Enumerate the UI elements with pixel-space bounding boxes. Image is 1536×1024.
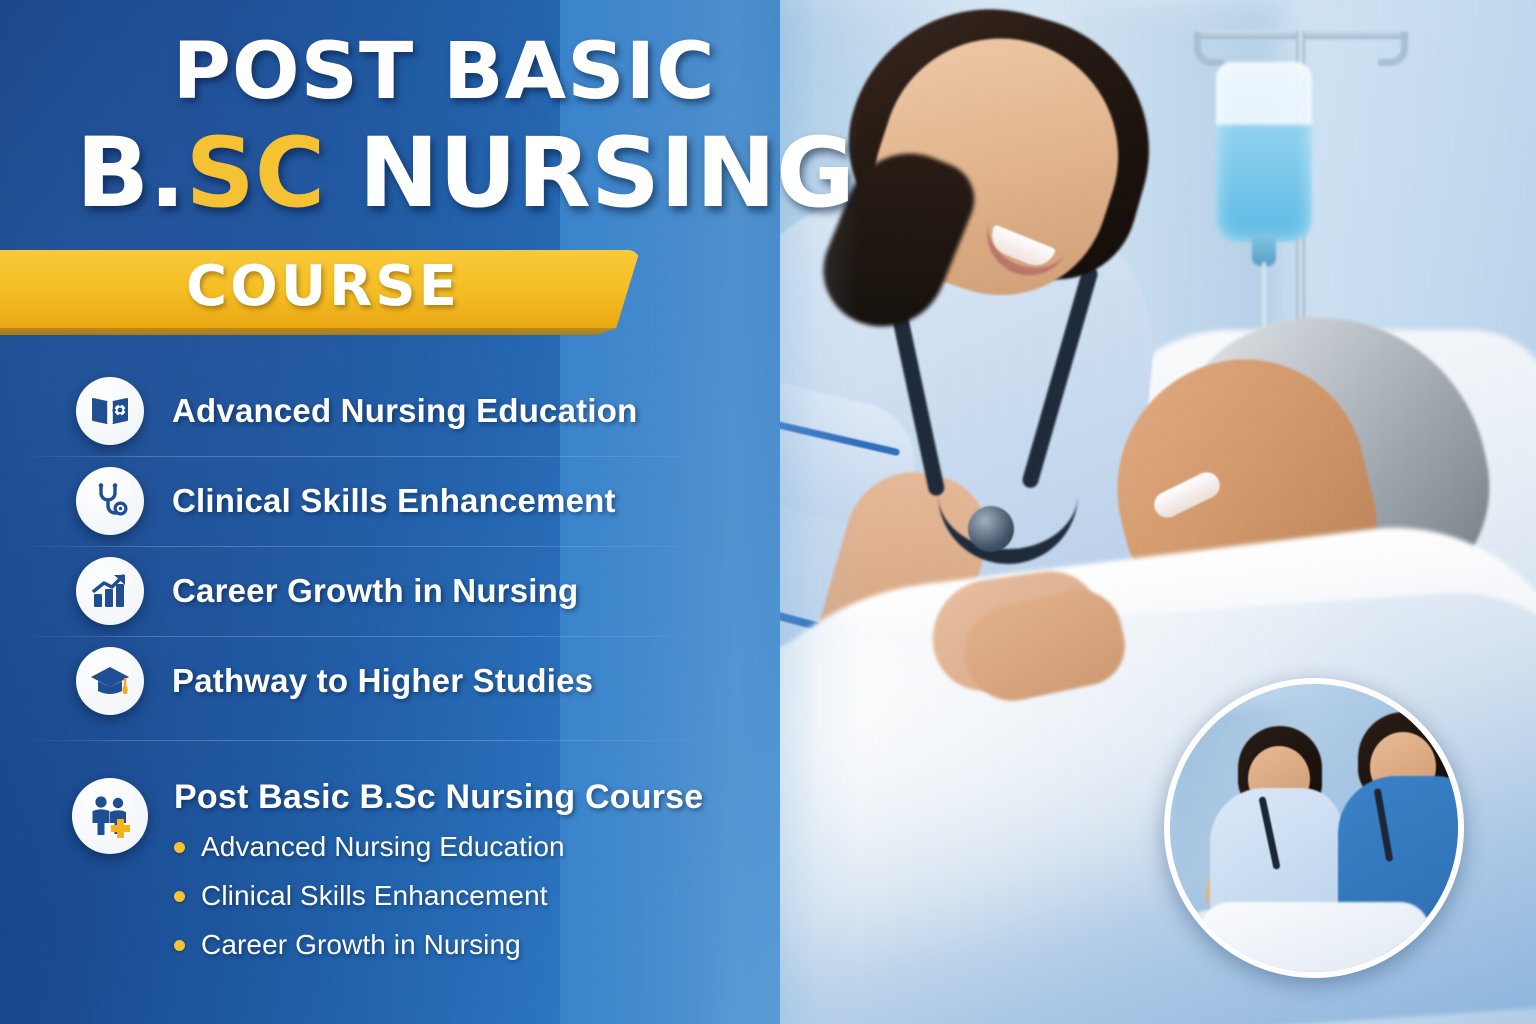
list-item: Clinical Skills Enhancement	[174, 880, 703, 912]
bullet-dot	[174, 842, 185, 853]
feature-label: Pathway to Higher Studies	[172, 662, 593, 700]
headline-line-2: B.SC NURSING	[76, 125, 855, 221]
bullet-dot	[174, 940, 185, 951]
feature-label: Clinical Skills Enhancement	[172, 482, 616, 520]
feature-item[interactable]: Advanced Nursing Education	[0, 366, 760, 456]
list-item: Advanced Nursing Education	[174, 831, 703, 863]
headline-prefix: B.	[76, 117, 186, 229]
inset-patient-blanket	[1200, 902, 1430, 978]
headline-highlight: SC	[186, 117, 326, 229]
feature-label: Career Growth in Nursing	[172, 572, 578, 610]
list-item: Career Growth in Nursing	[174, 929, 703, 961]
promotional-banner: POST BASIC B.SC NURSING COURSE	[0, 0, 1536, 1024]
feature-item[interactable]: Pathway to Higher Studies	[0, 636, 760, 726]
headline-line-1: POST BASIC	[173, 33, 716, 111]
list-item-label: Clinical Skills Enhancement	[201, 880, 548, 912]
feature-item[interactable]: Career Growth in Nursing	[0, 546, 760, 636]
summary-bullet-list: Advanced Nursing Education Clinical Skil…	[174, 831, 703, 961]
feature-label: Advanced Nursing Education	[172, 392, 637, 430]
inset-photo-circle	[1164, 678, 1464, 978]
feature-item[interactable]: Clinical Skills Enhancement	[0, 456, 760, 546]
list-item-label: Advanced Nursing Education	[201, 831, 565, 863]
growth-chart-icon	[76, 557, 144, 625]
stethoscope-icon	[76, 467, 144, 535]
graduation-cap-icon	[76, 647, 144, 715]
stethoscope-chestpiece	[968, 506, 1014, 552]
list-item-label: Career Growth in Nursing	[201, 929, 521, 961]
iv-fluid-bag	[1216, 62, 1312, 242]
summary-title: Post Basic B.Sc Nursing Course	[174, 778, 703, 817]
bullet-dot	[174, 891, 185, 902]
course-ribbon-shadow	[0, 328, 616, 335]
ribbon-label: COURSE	[186, 259, 460, 315]
two-people-medical-icon	[72, 778, 148, 854]
iv-hook-left	[1194, 32, 1224, 66]
feature-list: Advanced Nursing Education Clinical Skil…	[0, 366, 760, 726]
summary-block: Post Basic B.Sc Nursing Course Advanced …	[0, 740, 760, 978]
headline-suffix: NURSING	[325, 117, 855, 229]
book-medical-icon	[76, 377, 144, 445]
